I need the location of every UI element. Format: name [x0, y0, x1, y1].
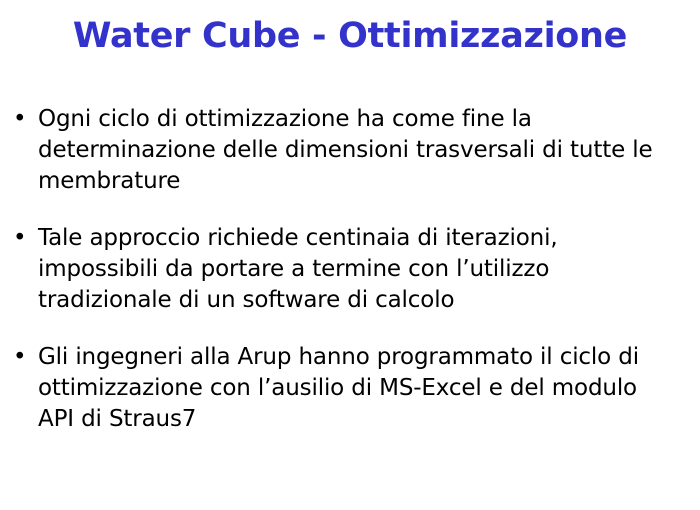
list-item: • Gli ingegneri alla Arup hanno programm… — [10, 342, 685, 435]
list-item: • Tale approccio richiede centinaia di i… — [10, 223, 685, 316]
bullet-list: • Ogni ciclo di ottimizzazione ha come f… — [10, 104, 685, 435]
page-title: Water Cube - Ottimizzazione — [0, 14, 700, 58]
presentation-slide: Water Cube - Ottimizzazione • Ogni ciclo… — [0, 0, 700, 510]
bullet-point-icon: • — [13, 104, 31, 135]
list-item-text: Gli ingegneri alla Arup hanno programmat… — [38, 342, 685, 435]
list-item-text: Tale approccio richiede centinaia di ite… — [38, 223, 685, 316]
bullet-point-icon: • — [13, 223, 31, 254]
bullet-point-icon: • — [13, 342, 31, 373]
list-item-text: Ogni ciclo di ottimizzazione ha come fin… — [38, 104, 685, 197]
list-item: • Ogni ciclo di ottimizzazione ha come f… — [10, 104, 685, 197]
